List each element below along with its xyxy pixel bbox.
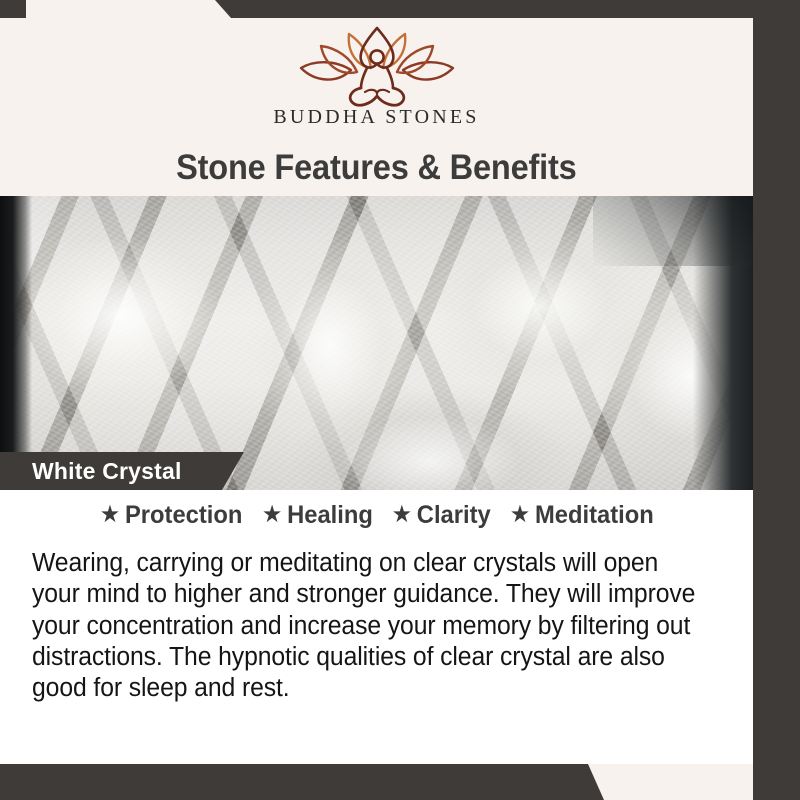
benefit-label: Meditation [535, 501, 654, 530]
stone-photo: White Crystal [0, 196, 753, 490]
description-text: Wearing, carrying or meditating on clear… [32, 548, 698, 705]
stone-name-banner: White Crystal [0, 452, 244, 490]
lotus-meditation-icon [293, 24, 461, 108]
benefit-label: Protection [125, 501, 242, 530]
star-icon: ★ [262, 503, 282, 527]
stone-name-label: White Crystal [0, 458, 182, 485]
photo-vignette-left [0, 196, 32, 490]
benefits-row: ★ Protection ★ Healing ★ Clarity ★ Medit… [0, 490, 753, 540]
title-bar: Stone Features & Benefits [0, 140, 753, 196]
frame-right-edge [753, 0, 800, 800]
benefit-item: ★ Protection [99, 501, 242, 530]
star-icon: ★ [99, 503, 119, 527]
star-icon: ★ [391, 503, 411, 527]
description-block: Wearing, carrying or meditating on clear… [0, 538, 753, 764]
page-title: Stone Features & Benefits [176, 148, 577, 188]
page-surface: BUDDHA STONES Stone Features & Benefits … [0, 18, 753, 764]
frame-bottom-accent [0, 764, 800, 800]
benefit-item: ★ Meditation [510, 501, 654, 530]
poster-root: BUDDHA STONES Stone Features & Benefits … [0, 0, 800, 800]
benefit-item: ★ Healing [262, 501, 373, 530]
brand-name: BUDDHA STONES [273, 106, 479, 129]
benefit-label: Clarity [416, 501, 490, 530]
benefit-item: ★ Clarity [391, 501, 490, 530]
brand-header: BUDDHA STONES [0, 18, 753, 140]
photo-vignette-top-right [593, 196, 753, 266]
benefit-label: Healing [287, 501, 373, 530]
star-icon: ★ [510, 503, 530, 527]
frame-top-accent [0, 0, 800, 18]
